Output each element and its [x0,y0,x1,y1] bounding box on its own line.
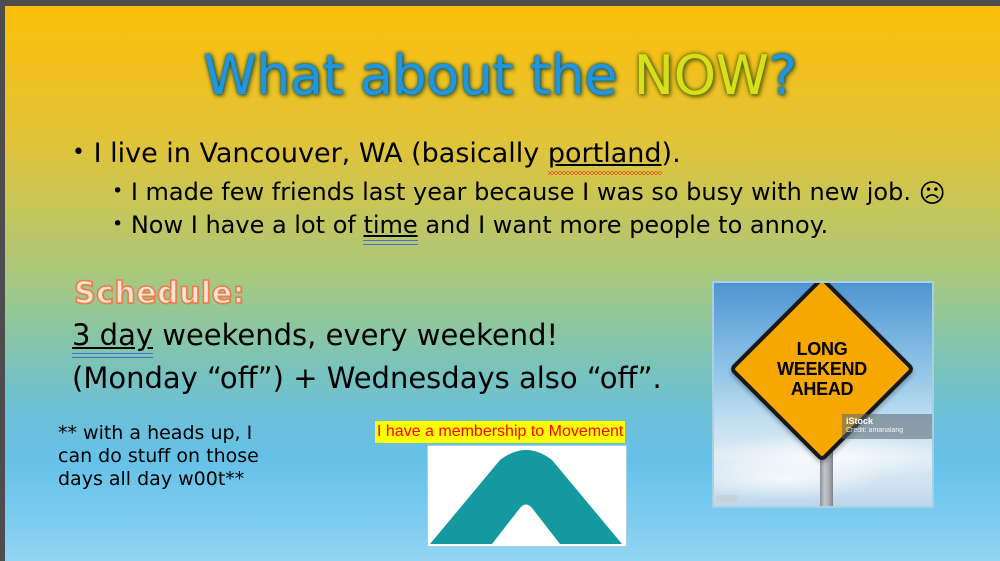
slide-frame-top-edge [0,0,1000,6]
bullet-main: • I live in Vancouver, WA (basically por… [72,136,681,171]
schedule-line-2: (Monday “off”) + Wednesdays also “off”. [72,361,662,395]
footnote-line-1: ** with a heads up, I [58,422,259,445]
footnote-line-2: can do stuff on those [58,445,259,468]
presentation-slide: What about the NOW? • I live in Vancouve… [0,0,1000,561]
long-weekend-sign-image: LONG WEEKEND AHEAD iStock Credit: amanal… [712,281,934,508]
schedule-line-1-underlined[interactable]: 3 day [72,318,153,352]
bullet-sub-1-text: I made few friends last year because I w… [123,178,918,206]
slide-title: What about the NOW? [0,44,1000,107]
movement-climbing-logo-icon [428,446,624,544]
sign-text-line-3: AHEAD [791,379,854,399]
cloud-decoration-b [712,459,884,499]
bullet-sub-2: • Now I have a lot of time and I want mo… [112,208,828,241]
bullet-sub-2-text-after: and I want more people to annoy. [418,211,828,239]
sign-text-line-2: WEEKEND [777,359,867,379]
title-part-yellow: NOW [634,44,769,107]
bullet-marker: • [72,140,85,165]
membership-caption: I have a membership to Movement [375,421,625,443]
bullet-main-misspelled-word: portland [548,138,662,169]
bullet-sub-1: • I made few friends last year because I… [112,175,946,210]
istock-watermark: iStock Credit: amanalang [842,414,934,439]
bullet-sub-2-linked-word[interactable]: time [363,211,417,239]
sign-text-line-1: LONG [797,339,848,359]
frowning-face-icon: ☹ [919,179,946,209]
slide-frame-left-edge [0,0,5,561]
schedule-line-1-rest: weekends, every weekend! [153,318,558,352]
watermark-credit: Credit: amanalang [846,426,934,436]
schedule-line-1: 3 day weekends, every weekend! [72,318,558,352]
bullet-sub-2-text-before: Now I have a lot of [123,211,363,239]
footnote-line-3: days all day w00t** [58,468,259,491]
bullet-sub-2-marker: • [112,213,123,235]
bullet-main-text-before: I live in Vancouver, WA (basically [85,138,548,169]
title-part-blue: What about the [203,44,633,107]
bullet-sub-1-marker: • [112,180,123,202]
watermark-brand: iStock [846,416,934,426]
footnote-note: ** with a heads up, I can do stuff on th… [58,422,259,491]
title-part-question: ? [768,44,796,107]
schedule-heading: Schedule: [74,276,245,311]
bullet-main-text-after: ). [662,138,681,169]
movement-logo-image [427,445,627,547]
watermark-corner-tag [716,495,738,502]
